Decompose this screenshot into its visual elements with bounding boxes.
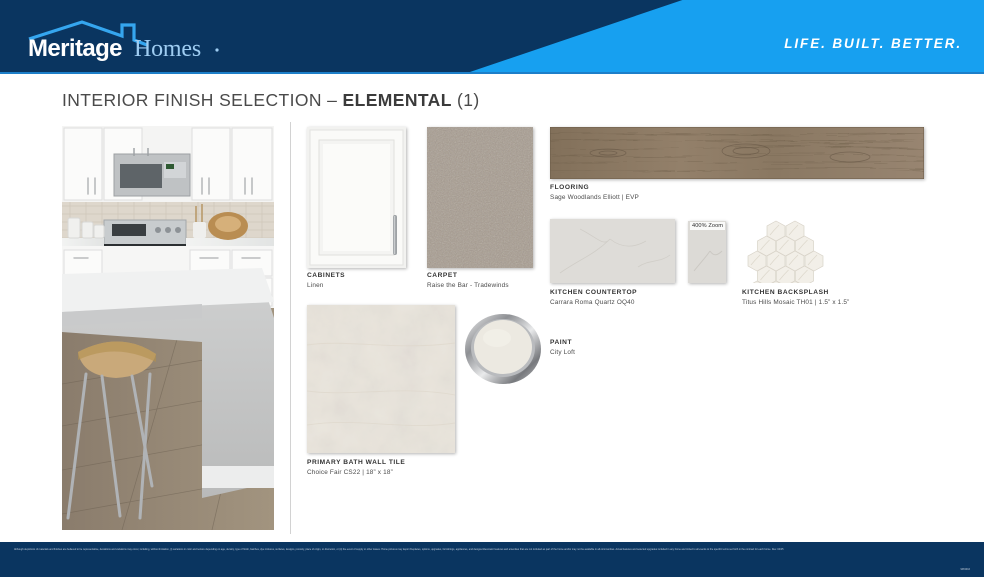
- label-kitchen-backsplash-subtitle: Titus Hills Mosaic TH01 | 1.5” x 1.5”: [742, 299, 849, 307]
- label-carpet-title: CARPET: [427, 272, 509, 281]
- finish-selection-sheet: LIFE. BUILT. BETTER. Meritage Homes INTE…: [0, 0, 984, 577]
- vertical-divider: [290, 122, 291, 534]
- label-carpet-subtitle: Raise the Bar - Tradewinds: [427, 282, 509, 290]
- swatch-countertop-zoom-inset[interactable]: [688, 221, 726, 283]
- brand-tagline: LIFE. BUILT. BETTER.: [784, 36, 962, 51]
- swatch-kitchen-countertop[interactable]: [550, 219, 675, 283]
- label-carpet: CARPET Raise the Bar - Tradewinds: [427, 272, 509, 290]
- swatch-cabinets[interactable]: [307, 127, 406, 268]
- svg-text:Homes: Homes: [134, 36, 201, 62]
- swatch-carpet[interactable]: [427, 127, 533, 268]
- page-title-suffix: (1): [452, 90, 480, 110]
- page-footer: Although depictions of materials and fin…: [0, 542, 984, 577]
- label-flooring: FLOORING Sage Woodlands Elliott | EVP: [550, 184, 639, 202]
- footer-revision-code: 9/8/2016: [961, 568, 971, 571]
- label-kitchen-countertop-title: KITCHEN COUNTERTOP: [550, 289, 637, 298]
- swatch-kitchen-backsplash[interactable]: [742, 219, 830, 283]
- meritage-homes-logo[interactable]: Meritage Homes: [27, 20, 237, 62]
- swatch-primary-bath-wall-tile[interactable]: [307, 305, 455, 453]
- header-underline: [0, 72, 984, 74]
- svg-text:Meritage: Meritage: [28, 35, 122, 62]
- label-kitchen-backsplash-title: KITCHEN BACKSPLASH: [742, 289, 849, 298]
- label-paint: PAINT City Loft: [550, 339, 575, 357]
- label-primary-bath-wall-tile: PRIMARY BATH WALL TILE Choice Fair CS22 …: [307, 459, 405, 477]
- page-title-prefix: INTERIOR FINISH SELECTION –: [62, 90, 343, 110]
- swatch-flooring[interactable]: [550, 127, 924, 179]
- countertop-zoom-label: 400% Zoom: [690, 222, 725, 230]
- label-paint-title: PAINT: [550, 339, 575, 348]
- kitchen-photo: [62, 126, 274, 530]
- label-cabinets-subtitle: Linen: [307, 282, 345, 290]
- swatch-paint-lid[interactable]: [464, 311, 542, 385]
- label-kitchen-countertop: KITCHEN COUNTERTOP Carrara Roma Quartz O…: [550, 289, 637, 307]
- label-cabinets: CABINETS Linen: [307, 272, 345, 290]
- label-flooring-subtitle: Sage Woodlands Elliott | EVP: [550, 194, 639, 202]
- label-flooring-title: FLOORING: [550, 184, 639, 193]
- label-paint-subtitle: City Loft: [550, 349, 575, 357]
- page-title: INTERIOR FINISH SELECTION – ELEMENTAL (1…: [62, 90, 480, 111]
- label-cabinets-title: CABINETS: [307, 272, 345, 281]
- page-title-emphasis: ELEMENTAL: [343, 90, 452, 110]
- page-header: LIFE. BUILT. BETTER. Meritage Homes: [0, 0, 984, 74]
- label-primary-bath-wall-tile-subtitle: Choice Fair CS22 | 18” x 18”: [307, 469, 405, 477]
- label-primary-bath-wall-tile-title: PRIMARY BATH WALL TILE: [307, 459, 405, 468]
- label-kitchen-backsplash: KITCHEN BACKSPLASH Titus Hills Mosaic TH…: [742, 289, 849, 307]
- footer-disclaimer: Although depictions of materials and fin…: [14, 548, 970, 552]
- label-kitchen-countertop-subtitle: Carrara Roma Quartz OQ40: [550, 299, 637, 307]
